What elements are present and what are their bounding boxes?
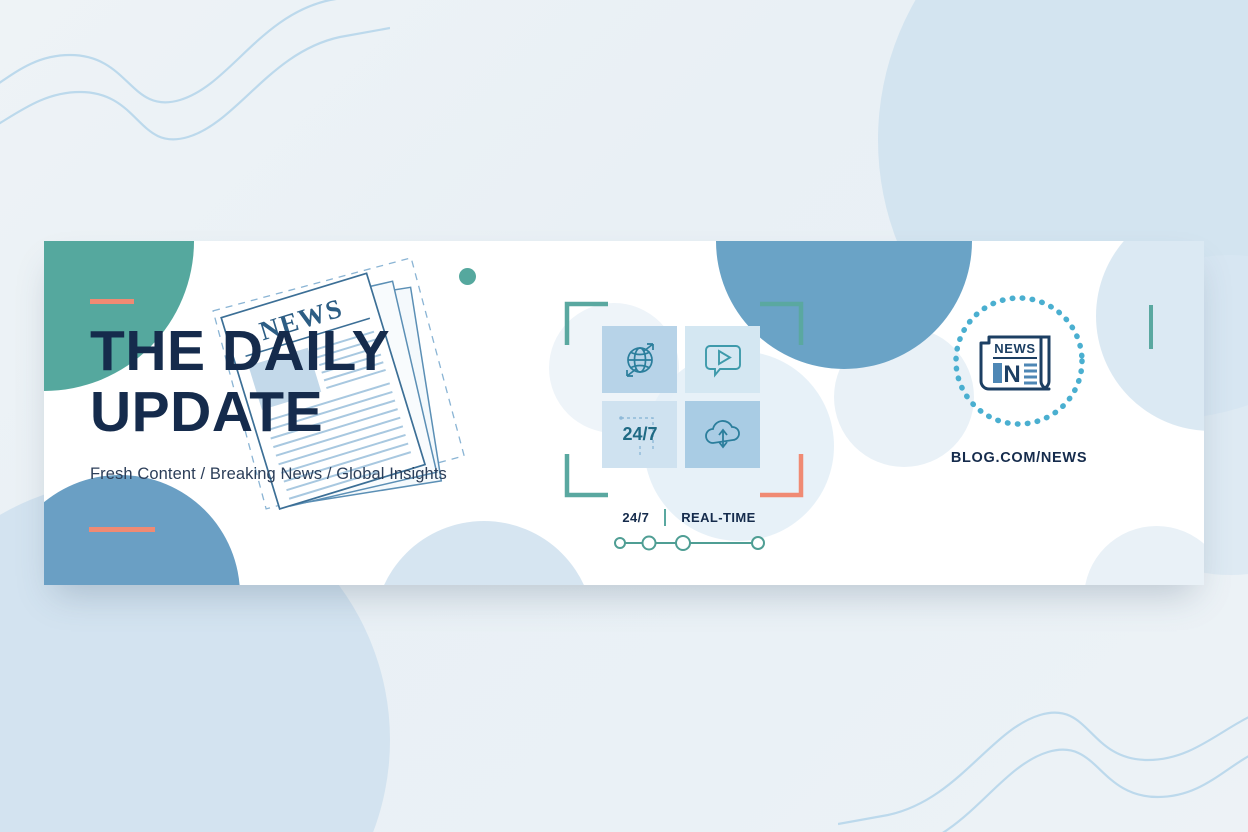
page-title-line2: UPDATE [90,382,510,443]
headline-block: THE DAILY UPDATE Fresh Content / Breakin… [90,299,510,484]
banner-card: NEWS [44,241,1204,585]
cloud-sync-icon [701,415,745,455]
globe-arrows-icon [619,339,661,381]
clock-24-7-icon: 24/7 [609,406,671,464]
badge-icon-initial: N [1003,361,1020,388]
module-label-left: 24/7 [622,510,649,525]
module-timeline [564,534,814,552]
badge-icon-masthead: NEWS [994,341,1035,356]
tile-global[interactable] [602,326,677,393]
page-subtitle: Fresh Content / Breaking News / Global I… [90,465,510,484]
icon-feature-module: 24/7 [564,301,814,552]
timeline-nodes-icon [613,534,765,552]
tile-cloud[interactable] [685,401,760,468]
bracket-top-right-icon [760,301,804,345]
background-wave-bottom-right-icon [838,662,1248,832]
module-labels-row: 24/7 REAL-TIME [564,509,814,526]
badge-url[interactable]: BLOG.COM/NEWS [889,450,1149,466]
tile-24-7-label: 24/7 [622,424,657,444]
bracket-bottom-right-icon [760,454,804,498]
decor-teal-vertical-line [1149,305,1153,349]
icon-tile-grid: 24/7 [602,326,760,468]
page-root: NEWS [0,0,1248,832]
module-label-divider [664,509,666,526]
tile-video[interactable] [685,326,760,393]
decor-pale-circle-far-right [1084,526,1204,585]
headline-accent-tick [90,299,134,304]
background-wave-top-left-icon [0,0,390,190]
decor-coral-bar-bottom [89,527,155,532]
newspaper-badge-icon[interactable]: NEWS N [949,291,1089,431]
tile-24-7[interactable]: 24/7 [602,401,677,468]
page-title-line1: THE DAILY [90,321,510,382]
module-label-right: REAL-TIME [681,510,755,525]
play-bubble-icon [703,340,743,380]
badge-block: NEWS N BLOG.COM/NEWS [889,291,1149,466]
